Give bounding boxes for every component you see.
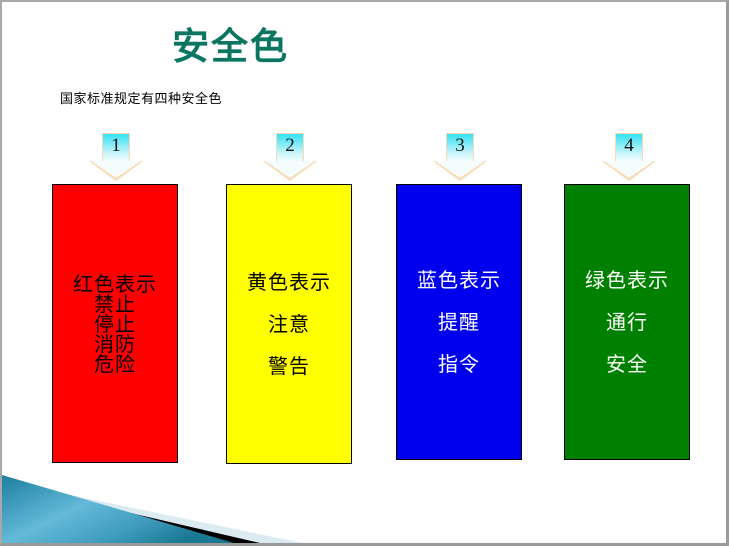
color-box-line: 安全 xyxy=(606,343,648,385)
arrow-number-label: 1 xyxy=(89,135,143,157)
deco-blue-triangle xyxy=(2,475,234,543)
color-box-line: 禁止 xyxy=(94,294,136,314)
color-box-blue: 蓝色表示提醒指令 xyxy=(396,184,522,460)
color-box-line: 红色表示 xyxy=(73,274,157,294)
arrow-head xyxy=(433,161,487,181)
deco-black-stripe xyxy=(2,483,260,543)
down-arrow-icon-1: 1 xyxy=(89,133,143,181)
color-box-line: 黄色表示 xyxy=(247,261,331,303)
color-box-green: 绿色表示通行安全 xyxy=(564,184,690,460)
color-box-yellow: 黄色表示注意警告 xyxy=(226,184,352,464)
deco-pale-upper xyxy=(2,481,302,543)
arrow-head xyxy=(602,161,656,181)
slide-canvas: 安全色 国家标准规定有四种安全色 1234 红色表示禁止停止消防危险黄色表示注意… xyxy=(0,0,729,546)
arrow-number-label: 2 xyxy=(263,135,317,157)
arrow-head-fill xyxy=(604,161,654,178)
arrow-number-label: 4 xyxy=(602,135,656,157)
color-box-line: 注意 xyxy=(268,303,310,345)
color-box-line: 绿色表示 xyxy=(585,259,669,301)
color-box-line: 警告 xyxy=(268,345,310,387)
down-arrow-icon-4: 4 xyxy=(602,133,656,181)
color-box-line: 消防 xyxy=(94,334,136,354)
arrow-head xyxy=(263,161,317,181)
arrow-number-label: 3 xyxy=(433,135,487,157)
down-arrow-icon-2: 2 xyxy=(263,133,317,181)
page-title: 安全色 xyxy=(0,26,595,69)
color-box-line: 蓝色表示 xyxy=(417,259,501,301)
arrow-head-fill xyxy=(91,161,141,178)
color-box-line: 停止 xyxy=(94,314,136,334)
color-box-line: 提醒 xyxy=(438,301,480,343)
arrow-head xyxy=(89,161,143,181)
color-box-red: 红色表示禁止停止消防危险 xyxy=(52,184,178,463)
color-box-line: 指令 xyxy=(438,343,480,385)
arrow-head-fill xyxy=(435,161,485,178)
color-box-line: 通行 xyxy=(606,301,648,343)
down-arrow-icon-3: 3 xyxy=(433,133,487,181)
deco-pale-triangle xyxy=(2,481,302,543)
color-box-line: 危险 xyxy=(94,354,136,374)
subtitle-text: 国家标准规定有四种安全色 xyxy=(60,88,222,107)
arrow-head-fill xyxy=(265,161,315,178)
